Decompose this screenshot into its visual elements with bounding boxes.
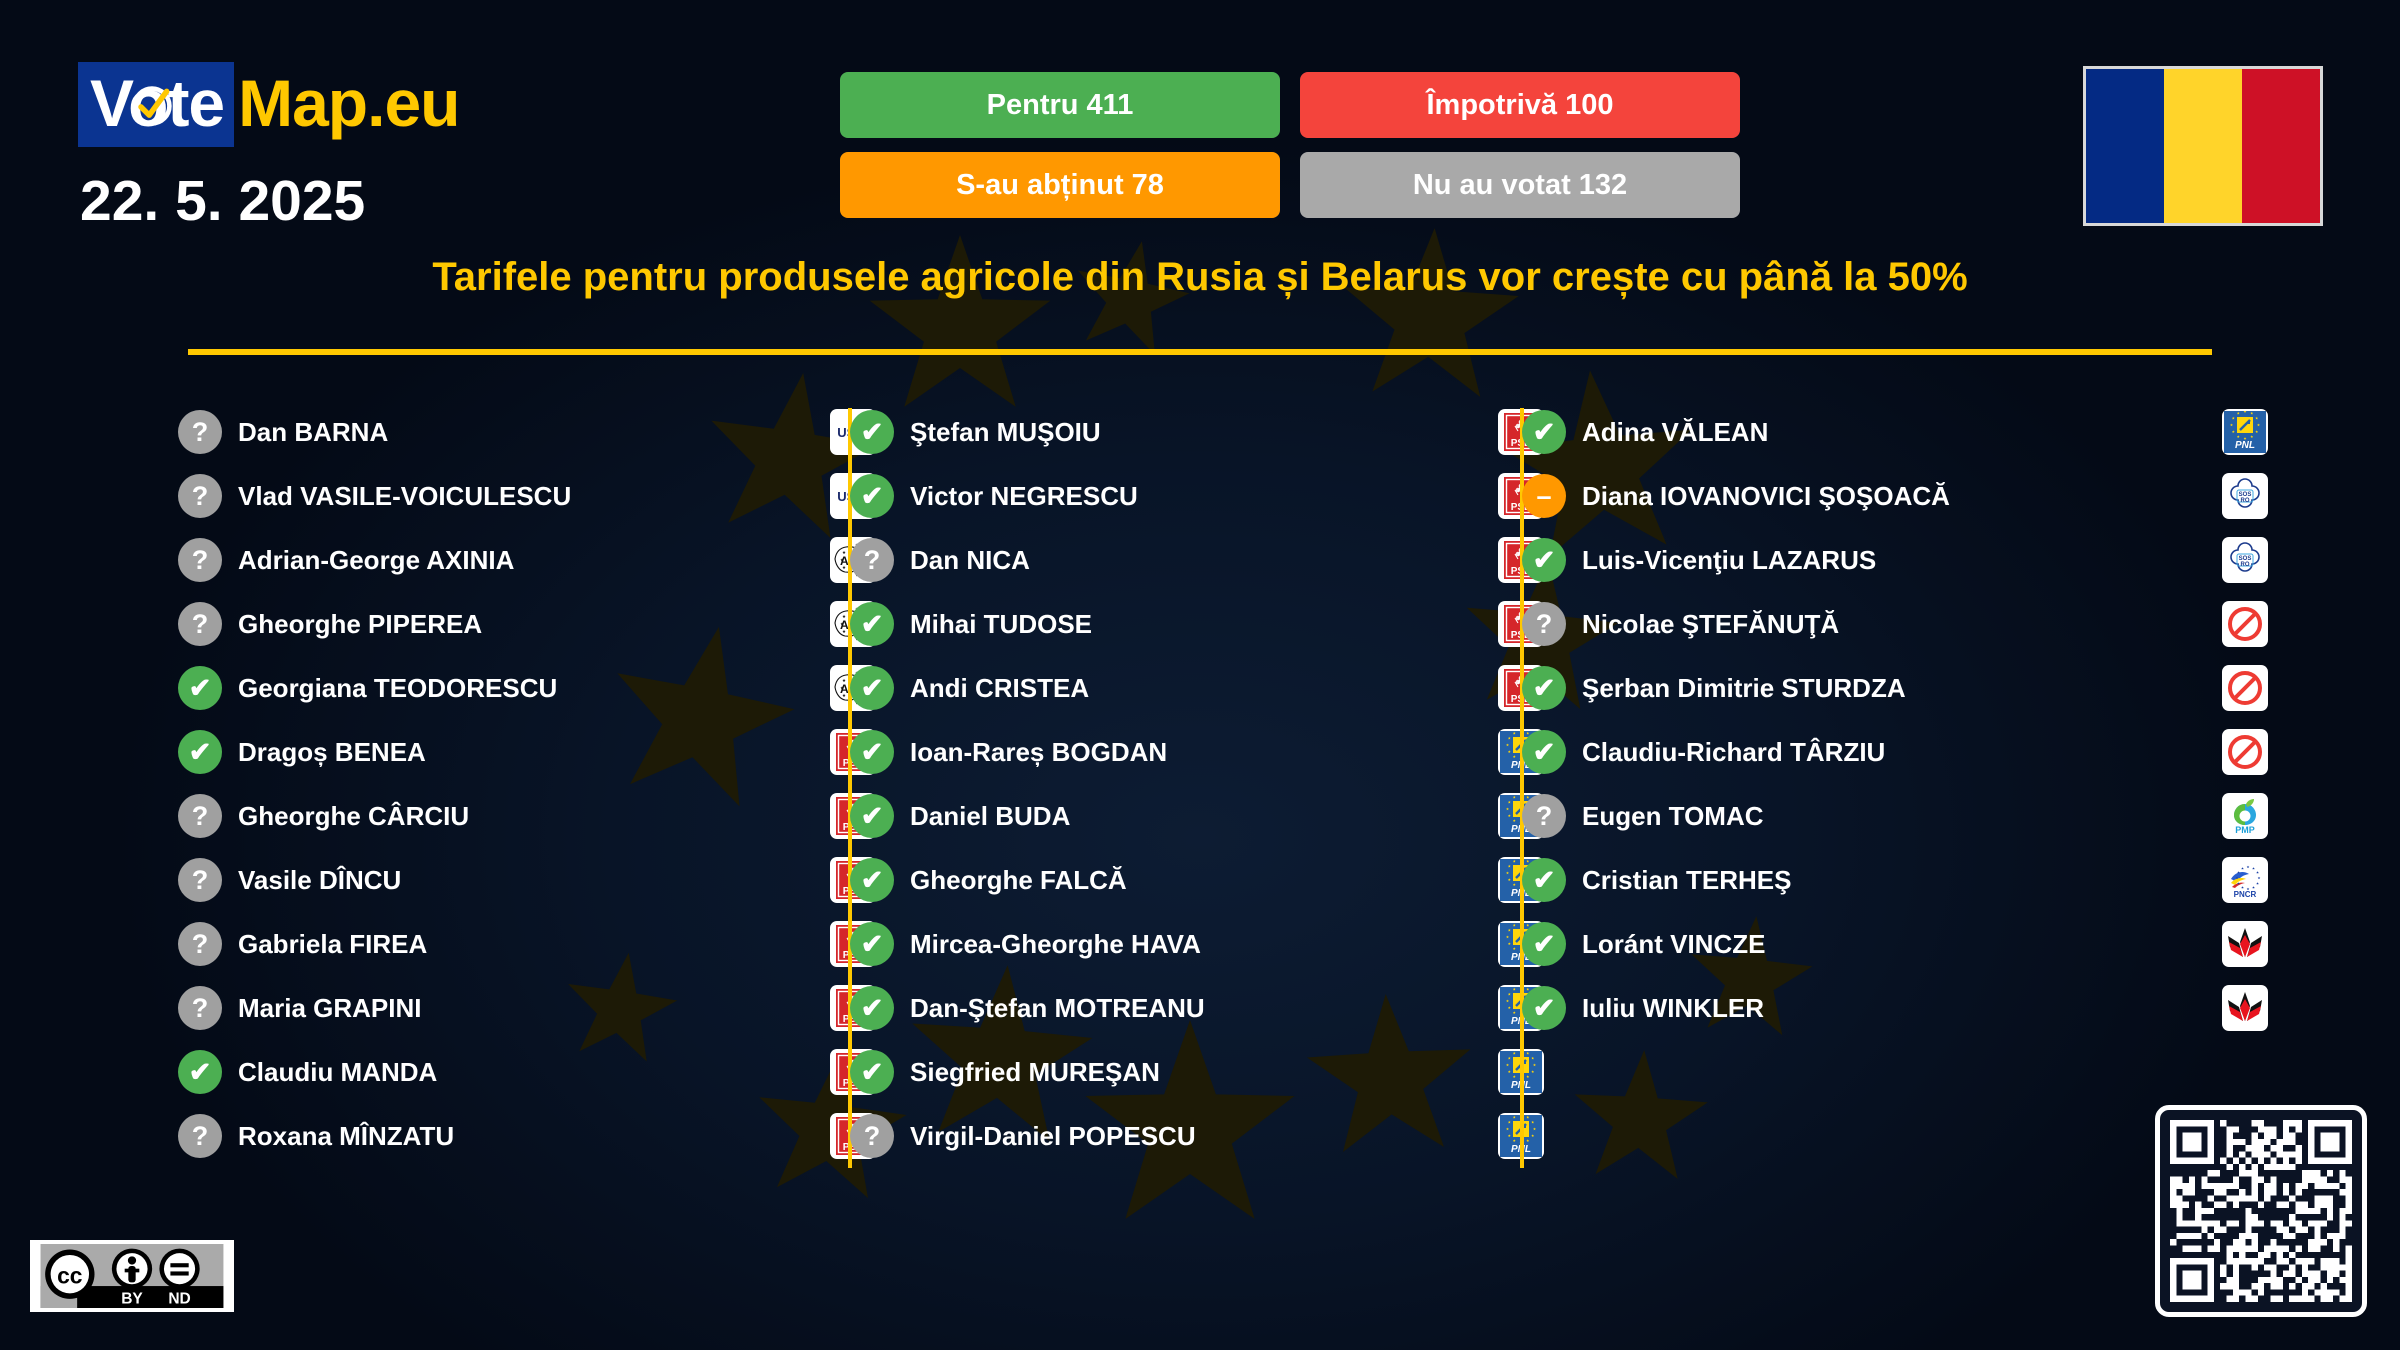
mep-row[interactable]: ✔Ioan-Rareș BOGDANPNL [850, 720, 1530, 784]
mep-row[interactable]: ?Vasile DÎNCUPSD [178, 848, 858, 912]
mep-row[interactable]: ✔Daniel BUDAPNL [850, 784, 1530, 848]
vote-badge-for: ✔ [1522, 986, 1566, 1030]
tally-for[interactable]: Pentru 411 [840, 72, 1280, 138]
tally-against[interactable]: Împotrivă 100 [1300, 72, 1740, 138]
vote-badge-for: ✔ [1522, 538, 1566, 582]
vote-badge-unknown: ? [178, 794, 222, 838]
mep-name: Cristian TERHEŞ [1582, 865, 1792, 896]
party-logo-none-icon [2222, 601, 2268, 647]
vote-badge-unknown: ? [178, 858, 222, 902]
motion-title: Tarifele pentru produsele agricole din R… [0, 255, 2400, 300]
mep-name: Nicolae ŞTEFĂNUŢĂ [1582, 609, 1839, 640]
vote-tally-group: Pentru 411 Împotrivă 100 S-au abținut 78… [840, 72, 1740, 218]
mep-row[interactable]: ✔Dan-Ştefan MOTREANUPNL [850, 976, 1530, 1040]
mep-row[interactable]: ✔Mihai TUDOSEPSD [850, 592, 1530, 656]
mep-name: Ştefan MUŞOIU [910, 417, 1101, 448]
mep-name: Roxana MÎNZATU [238, 1121, 454, 1152]
tally-did-not-vote[interactable]: Nu au votat 132 [1300, 152, 1740, 218]
mep-name: Dan NICA [910, 545, 1030, 576]
mep-row[interactable]: ✔Loránt VINCZE [1522, 912, 2262, 976]
mep-row[interactable]: ✔Mircea-Gheorghe HAVAPNL [850, 912, 1530, 976]
mep-row[interactable]: ✔Andi CRISTEAPSD [850, 656, 1530, 720]
svg-text:cc: cc [57, 1262, 83, 1288]
vote-date: 22. 5. 2025 [80, 168, 365, 234]
column-1: ?Dan BARNAUSR?Vlad VASILE-VOICULESCUUSR?… [178, 400, 858, 1168]
mep-name: Gheorghe PIPEREA [238, 609, 482, 640]
svg-text:BY: BY [121, 1290, 143, 1307]
party-logo-sosro-icon: SOSRO [2222, 537, 2268, 583]
vote-badge-unknown: ? [178, 538, 222, 582]
vote-badge-for: ✔ [850, 922, 894, 966]
mep-name: Loránt VINCZE [1582, 929, 1765, 960]
vote-badge-for: ✔ [850, 602, 894, 646]
vote-badge-for: ✔ [850, 474, 894, 518]
flag-band-blue [2086, 69, 2164, 223]
mep-row[interactable]: ✔Iuliu WINKLER [1522, 976, 2262, 1040]
mep-name: Şerban Dimitrie STURDZA [1582, 673, 1906, 704]
site-logo[interactable]: Vote Map.eu [78, 62, 459, 147]
svg-text:RO: RO [2241, 562, 2250, 568]
party-logo-sosro-icon: SOSRO [2222, 473, 2268, 519]
flag-band-yellow [2164, 69, 2242, 223]
mep-row[interactable]: ✔Georgiana TEODORESCUAUR [178, 656, 858, 720]
qr-code[interactable] [2155, 1105, 2367, 1317]
party-logo-none-icon [2222, 665, 2268, 711]
mep-row[interactable]: ?Adrian-George AXINIAAUR [178, 528, 858, 592]
vote-badge-for: ✔ [178, 730, 222, 774]
mep-name: Gheorghe FALCĂ [910, 865, 1127, 896]
mep-row[interactable]: ?Gabriela FIREAPSD [178, 912, 858, 976]
mep-name: Adina VĂLEAN [1582, 417, 1768, 448]
svg-text:ND: ND [168, 1290, 190, 1307]
mep-name: Siegfried MUREŞAN [910, 1057, 1160, 1088]
tally-abstain[interactable]: S-au abținut 78 [840, 152, 1280, 218]
mep-row[interactable]: ?Nicolae ŞTEFĂNUŢĂ [1522, 592, 2262, 656]
column-3: ✔Adina VĂLEANPNL–Diana IOVANOVICI ŞOŞOAC… [1522, 400, 2262, 1040]
vote-badge-unknown: ? [1522, 602, 1566, 646]
mep-name: Dan-Ştefan MOTREANU [910, 993, 1205, 1024]
party-logo-pncr-icon: PNCR [2222, 857, 2268, 903]
vote-badge-unknown: ? [178, 474, 222, 518]
mep-row[interactable]: ?Dan BARNAUSR [178, 400, 858, 464]
vote-badge-for: ✔ [1522, 666, 1566, 710]
svg-text:RO: RO [2241, 498, 2250, 504]
mep-row[interactable]: ?Virgil-Daniel POPESCUPNL [850, 1104, 1530, 1168]
mep-name: Vasile DÎNCU [238, 865, 401, 896]
party-logo-pmp-icon: PMP [2222, 793, 2268, 839]
svg-text:PMP: PMP [2235, 825, 2255, 835]
vote-badge-for: ✔ [178, 666, 222, 710]
vote-badge-for: ✔ [1522, 922, 1566, 966]
mep-name: Vlad VASILE-VOICULESCU [238, 481, 571, 512]
mep-name: Dragoș BENEA [238, 737, 426, 768]
flag-band-red [2242, 69, 2320, 223]
logo-map-text: Map.eu [238, 65, 459, 141]
mep-name: Claudiu-Richard TÂRZIU [1582, 737, 1885, 768]
column-2: ✔Ştefan MUŞOIUPSD✔Victor NEGRESCUPSD?Dan… [850, 400, 1530, 1168]
mep-row[interactable]: ?Vlad VASILE-VOICULESCUUSR [178, 464, 858, 528]
vote-badge-unknown: ? [178, 602, 222, 646]
vote-badge-for: ✔ [850, 1050, 894, 1094]
mep-row[interactable]: ?Dan NICAPSD [850, 528, 1530, 592]
vote-badge-for: ✔ [850, 986, 894, 1030]
mep-row[interactable]: ?Roxana MÎNZATUPSD [178, 1104, 858, 1168]
gold-divider-rule [188, 349, 2212, 355]
mep-row[interactable]: ✔Cristian TERHEŞPNCR [1522, 848, 2262, 912]
mep-row[interactable]: ?Gheorghe PIPEREAAUR [178, 592, 858, 656]
mep-name: Dan BARNA [238, 417, 388, 448]
mep-name: Mircea-Gheorghe HAVA [910, 929, 1201, 960]
mep-name: Maria GRAPINI [238, 993, 422, 1024]
mep-name: Ioan-Rareș BOGDAN [910, 737, 1167, 768]
mep-name: Mihai TUDOSE [910, 609, 1092, 640]
vote-badge-for: ✔ [1522, 858, 1566, 902]
vote-badge-for: ✔ [1522, 730, 1566, 774]
mep-name: Daniel BUDA [910, 801, 1070, 832]
mep-name: Andi CRISTEA [910, 673, 1089, 704]
mep-row[interactable]: ✔Şerban Dimitrie STURDZA [1522, 656, 2262, 720]
vote-badge-unknown: ? [178, 986, 222, 1030]
mep-row[interactable]: ✔Adina VĂLEANPNL [1522, 400, 2262, 464]
vote-badge-for: ✔ [850, 858, 894, 902]
checkmark-icon [130, 84, 174, 128]
vote-badge-unknown: ? [178, 410, 222, 454]
vote-badge-unknown: ? [178, 922, 222, 966]
vote-badge-unknown: ? [1522, 794, 1566, 838]
party-logo-udmr-icon [2222, 921, 2268, 967]
mep-row[interactable]: ✔Claudiu MANDAPSD [178, 1040, 858, 1104]
mep-name: Adrian-George AXINIA [238, 545, 514, 576]
mep-name: Gabriela FIREA [238, 929, 427, 960]
mep-row[interactable]: ✔Dragoș BENEAPSD [178, 720, 858, 784]
vote-badge-for: ✔ [850, 794, 894, 838]
cc-by-nd-badge: cc BY ND [30, 1240, 234, 1312]
mep-name: Georgiana TEODORESCU [238, 673, 557, 704]
mep-name: Luis-Vicenţiu LAZARUS [1582, 545, 1876, 576]
vote-badge-for: ✔ [850, 730, 894, 774]
mep-row[interactable]: ✔Victor NEGRESCUPSD [850, 464, 1530, 528]
vote-badge-unknown: ? [178, 1114, 222, 1158]
mep-name: Iuliu WINKLER [1582, 993, 1764, 1024]
mep-row[interactable]: ?Gheorghe CÂRCIUPSD [178, 784, 858, 848]
vote-badge-for: ✔ [850, 410, 894, 454]
mep-name: Eugen TOMAC [1582, 801, 1764, 832]
vote-badge-abstain: – [1522, 474, 1566, 518]
mep-row[interactable]: ✔Luis-Vicenţiu LAZARUSSOSRO [1522, 528, 2262, 592]
mep-row[interactable]: ✔Siegfried MUREŞANPNL [850, 1040, 1530, 1104]
mep-name: Diana IOVANOVICI ŞOŞOACĂ [1582, 481, 1950, 512]
mep-name: Virgil-Daniel POPESCU [910, 1121, 1196, 1152]
party-logo-none-icon [2222, 729, 2268, 775]
party-logo-pnl-icon: PNL [2222, 409, 2268, 455]
mep-row[interactable]: –Diana IOVANOVICI ŞOŞOACĂSOSRO [1522, 464, 2262, 528]
vote-badge-for: ✔ [178, 1050, 222, 1094]
vote-badge-unknown: ? [850, 1114, 894, 1158]
mep-name: Claudiu MANDA [238, 1057, 437, 1088]
mep-row[interactable]: ✔Claudiu-Richard TÂRZIU [1522, 720, 2262, 784]
party-logo-udmr-icon [2222, 985, 2268, 1031]
romania-flag [2083, 66, 2323, 226]
mep-name: Gheorghe CÂRCIU [238, 801, 469, 832]
mep-row[interactable]: ?Maria GRAPINIPSD [178, 976, 858, 1040]
svg-text:PNCR: PNCR [2234, 890, 2257, 899]
mep-row[interactable]: ✔Ştefan MUŞOIUPSD [850, 400, 1530, 464]
vote-badge-unknown: ? [850, 538, 894, 582]
vote-badge-for: ✔ [850, 666, 894, 710]
svg-text:PNL: PNL [2235, 440, 2255, 451]
mep-row[interactable]: ?Eugen TOMACPMP [1522, 784, 2262, 848]
vote-badge-for: ✔ [1522, 410, 1566, 454]
mep-row[interactable]: ✔Gheorghe FALCĂPNL [850, 848, 1530, 912]
mep-name: Victor NEGRESCU [910, 481, 1138, 512]
